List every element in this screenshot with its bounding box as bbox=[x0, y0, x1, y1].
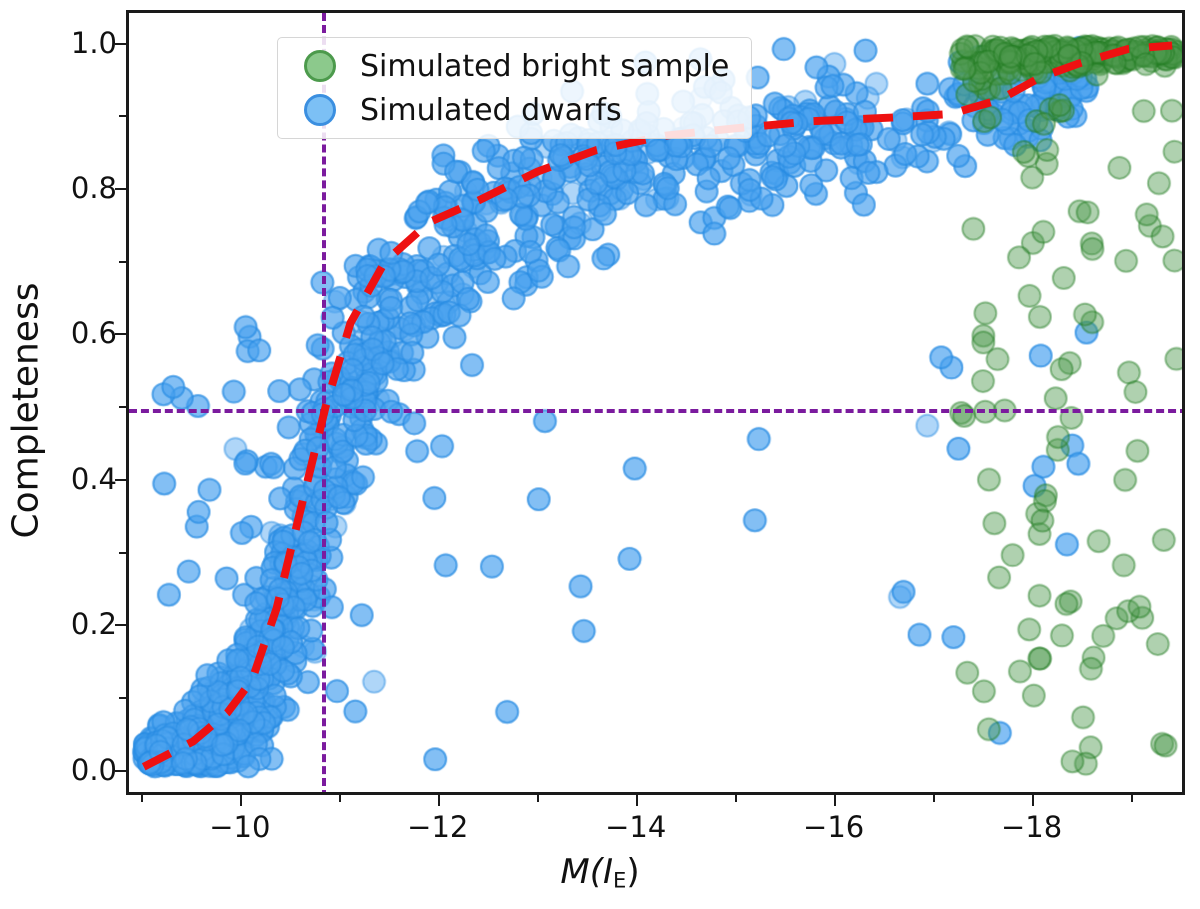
completeness-threshold-line bbox=[129, 409, 1185, 413]
x-axis-label-paren: ) bbox=[626, 852, 639, 892]
x-tick-major bbox=[1032, 795, 1034, 806]
x-tick-label: −12 bbox=[407, 810, 468, 844]
x-tick-minor bbox=[537, 795, 539, 802]
x-tick-minor bbox=[735, 795, 737, 802]
x-tick-major bbox=[834, 795, 836, 806]
x-tick-major bbox=[636, 795, 638, 806]
x-axis-label-m: M( bbox=[560, 852, 603, 892]
legend-label-bright-sample: Simulated bright sample bbox=[360, 49, 729, 84]
y-tick-label: 1.0 bbox=[71, 26, 117, 60]
y-axis-label: Completeness bbox=[6, 171, 47, 651]
x-tick-label: −14 bbox=[605, 810, 666, 844]
legend-marker-blue-circle-icon bbox=[304, 94, 336, 126]
x-tick-minor bbox=[933, 795, 935, 802]
x-tick-major bbox=[438, 795, 440, 806]
y-tick-label: 0.8 bbox=[71, 171, 117, 205]
legend-item-bright-sample: Simulated bright sample bbox=[292, 46, 729, 86]
legend-item-dwarfs: Simulated dwarfs bbox=[292, 90, 729, 130]
x-tick-minor bbox=[1131, 795, 1133, 802]
y-tick-label: 0.6 bbox=[71, 316, 117, 350]
legend: Simulated bright sample Simulated dwarfs bbox=[277, 37, 752, 139]
completeness-scatter-figure: Completeness M(IE) Simulated bright samp… bbox=[0, 0, 1200, 909]
y-tick-minor bbox=[119, 406, 126, 408]
x-tick-label: −10 bbox=[209, 810, 270, 844]
y-tick-minor bbox=[119, 697, 126, 699]
x-tick-minor bbox=[141, 795, 143, 802]
y-tick-minor bbox=[119, 552, 126, 554]
y-tick-label: 0.0 bbox=[71, 753, 117, 787]
y-tick-label: 0.4 bbox=[71, 462, 117, 496]
x-tick-major bbox=[240, 795, 242, 806]
x-tick-minor bbox=[339, 795, 341, 802]
x-axis-label: M(IE) bbox=[0, 852, 1200, 893]
legend-marker-green-circle-icon bbox=[304, 50, 336, 82]
y-tick-label: 0.2 bbox=[71, 607, 117, 641]
plot-area: Simulated bright sample Simulated dwarfs bbox=[126, 10, 1185, 795]
y-tick-minor bbox=[119, 261, 126, 263]
x-axis-label-subscript: E bbox=[613, 868, 626, 893]
legend-label-dwarfs: Simulated dwarfs bbox=[360, 93, 622, 128]
y-tick-minor bbox=[119, 115, 126, 117]
x-axis-label-i: I bbox=[603, 852, 613, 892]
x-tick-label: −18 bbox=[1001, 810, 1062, 844]
x-tick-label: −16 bbox=[803, 810, 864, 844]
